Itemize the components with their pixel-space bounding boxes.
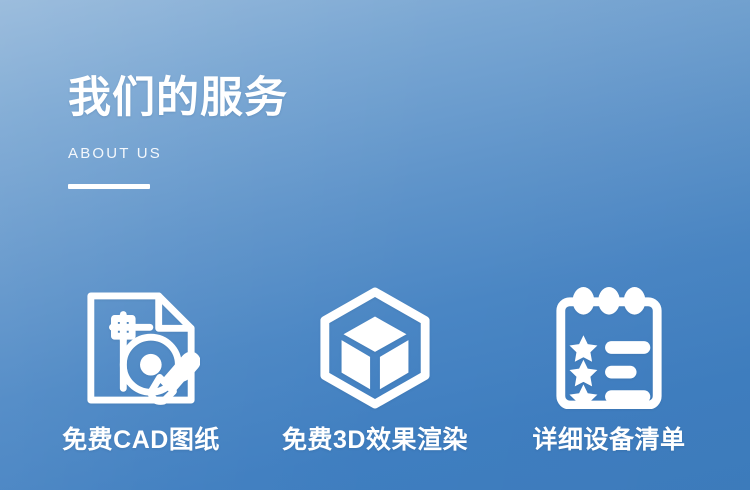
- hexagon-3d-cube-icon: [316, 282, 434, 414]
- cad-drawing-brush-icon: [82, 282, 200, 414]
- service-label: 免费3D效果渲染: [282, 420, 468, 456]
- clipboard-checklist-star-icon: [550, 282, 668, 414]
- service-item-equipment-list[interactable]: 详细设备清单: [496, 282, 722, 456]
- page-title: 我们的服务: [68, 74, 288, 123]
- service-banner: 我们的服务 ABOUT US: [0, 0, 750, 490]
- service-item-cad[interactable]: 免费CAD图纸: [28, 282, 254, 456]
- title-underline-rule: [68, 184, 150, 189]
- header-block: 我们的服务 ABOUT US: [68, 74, 288, 189]
- service-label: 详细设备清单: [532, 420, 685, 456]
- service-label: 免费CAD图纸: [62, 420, 220, 456]
- page-subtitle: ABOUT US: [68, 145, 288, 162]
- service-item-3d-render[interactable]: 免费3D效果渲染: [262, 282, 488, 456]
- services-row: 免费CAD图纸 免费3D效果渲染: [0, 282, 750, 456]
